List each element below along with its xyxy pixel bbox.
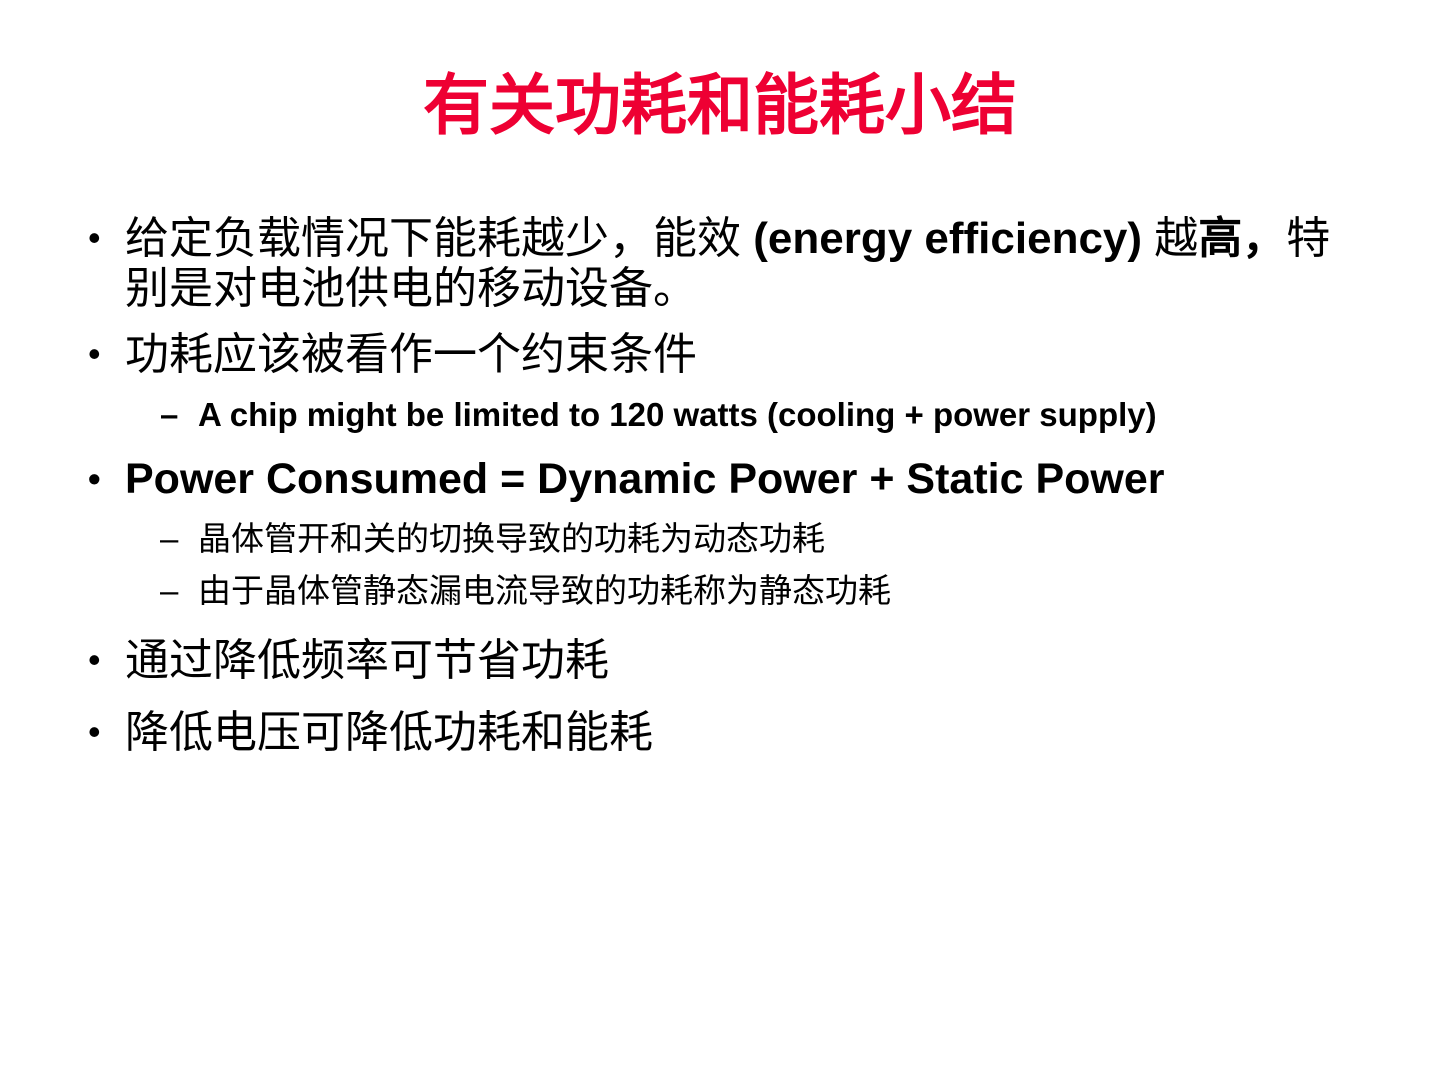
bullet-1-segment-4-bold: 高， xyxy=(1198,214,1286,263)
dash-marker-icon: – xyxy=(160,520,178,558)
dash-marker-icon: – xyxy=(160,572,178,610)
sub-bullet-item-3-2: – 由于晶体管静态漏电流导致的功耗称为静态功耗 xyxy=(80,572,1360,610)
spacer xyxy=(80,386,1360,396)
sub-bullet-item-2-1: – A chip might be limited to 120 watts (… xyxy=(80,396,1360,434)
bullet-1-segment-1: 给定负载情况下能耗越少，能效 xyxy=(125,214,753,263)
sub-bullet-item-2-1-text: A chip might be limited to 120 watts (co… xyxy=(198,396,1157,433)
spacer xyxy=(80,692,1360,708)
spacer xyxy=(80,439,1360,455)
spacer xyxy=(80,510,1360,520)
spacer xyxy=(80,320,1360,330)
bullet-item-2: • 功耗应该被看作一个约束条件 xyxy=(80,330,1360,380)
bullet-item-5: • 降低电压可降低功耗和能耗 xyxy=(80,708,1360,758)
sub-bullet-item-3-1: – 晶体管开和关的切换导致的功耗为动态功耗 xyxy=(80,520,1360,558)
bullet-marker-icon: • xyxy=(88,330,101,378)
bullet-item-4-text: 通过降低频率可节省功耗 xyxy=(125,636,609,685)
dash-marker-icon: – xyxy=(160,396,178,434)
page-title: 有关功耗和能耗小结 xyxy=(423,72,1017,138)
bullet-marker-icon: • xyxy=(88,214,101,262)
sub-bullet-item-3-1-text: 晶体管开和关的切换导致的功耗为动态功耗 xyxy=(198,520,825,557)
bullet-1-segment-3: 越 xyxy=(1142,214,1198,263)
bullet-item-3: • Power Consumed = Dynamic Power + Stati… xyxy=(80,455,1360,504)
bullet-marker-icon: • xyxy=(88,636,101,684)
bullet-marker-icon: • xyxy=(88,708,101,756)
bullet-item-1-text: 给定负载情况下能耗越少，能效 (energy efficiency) 越高，特别… xyxy=(125,214,1330,313)
slide-title-area: 有关功耗和能耗小结 xyxy=(0,72,1440,138)
bullet-item-5-text: 降低电压可降低功耗和能耗 xyxy=(125,708,653,757)
bullet-item-4: • 通过降低频率可节省功耗 xyxy=(80,636,1360,686)
slide-footer: 09/22/18 中国科学技术大学 109 xyxy=(0,970,1440,1080)
bullet-1-segment-2-bold: (energy efficiency) xyxy=(753,214,1142,263)
bullet-item-3-text: Power Consumed = Dynamic Power + Static … xyxy=(125,455,1165,503)
bullet-item-1: • 给定负载情况下能耗越少，能效 (energy efficiency) 越高，… xyxy=(80,214,1360,314)
bullet-marker-icon: • xyxy=(88,455,101,503)
spacer xyxy=(80,614,1360,636)
spacer xyxy=(80,562,1360,572)
slide-body: • 给定负载情况下能耗越少，能效 (energy efficiency) 越高，… xyxy=(80,214,1360,765)
bullet-item-2-text: 功耗应该被看作一个约束条件 xyxy=(125,330,697,379)
sub-bullet-item-3-2-text: 由于晶体管静态漏电流导致的功耗称为静态功耗 xyxy=(198,572,891,609)
slide-canvas: 有关功耗和能耗小结 • 给定负载情况下能耗越少，能效 (energy effic… xyxy=(0,0,1440,1080)
